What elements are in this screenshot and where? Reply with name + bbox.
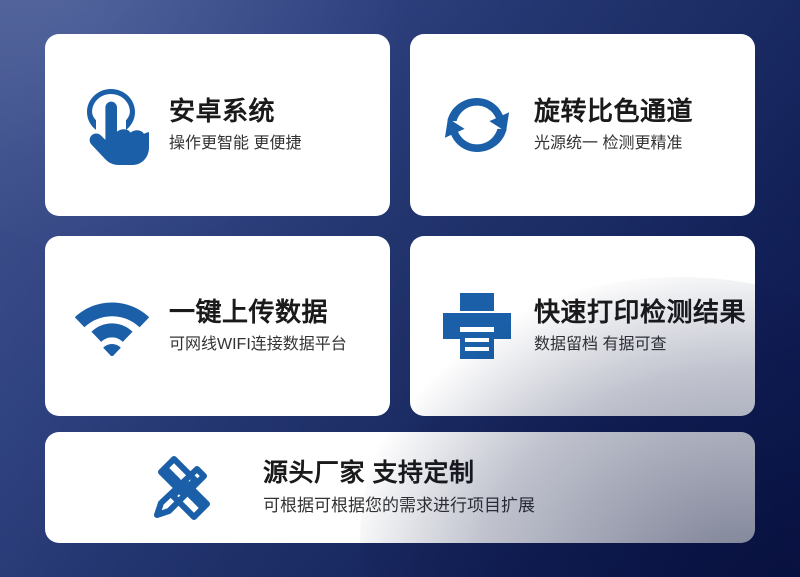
feature-title: 旋转比色通道 (534, 97, 693, 127)
feature-row-1: 安卓系统 操作更智能 更便捷 旋转比色通道 光源统一 检测更精准 (45, 34, 755, 216)
feature-title: 快速打印检测结果 (534, 298, 746, 328)
rotate-refresh-arrows-icon (434, 82, 520, 168)
feature-subtitle: 可根据可根据您的需求进行项目扩展 (263, 496, 535, 516)
feature-title: 一键上传数据 (169, 298, 347, 328)
pen-ruler-customize-icon (141, 445, 227, 531)
feature-card-grid: 安卓系统 操作更智能 更便捷 旋转比色通道 光源统一 检测更精准 (45, 34, 755, 543)
feature-card-rotating-channel[interactable]: 旋转比色通道 光源统一 检测更精准 (410, 34, 755, 216)
feature-text-block: 旋转比色通道 光源统一 检测更精准 (534, 97, 693, 153)
feature-card-android-system[interactable]: 安卓系统 操作更智能 更便捷 (45, 34, 390, 216)
feature-subtitle: 操作更智能 更便捷 (169, 134, 301, 153)
feature-poster: 安卓系统 操作更智能 更便捷 旋转比色通道 光源统一 检测更精准 (0, 0, 800, 577)
feature-text-block: 源头厂家 支持定制 可根据可根据您的需求进行项目扩展 (263, 459, 535, 516)
feature-title: 源头厂家 支持定制 (263, 459, 535, 488)
printer-icon (434, 283, 520, 369)
feature-card-data-upload[interactable]: 一键上传数据 可网线WIFI连接数据平台 (45, 236, 390, 416)
feature-subtitle: 数据留档 有据可查 (534, 335, 746, 354)
feature-title: 安卓系统 (169, 97, 301, 127)
touch-tap-hand-icon (69, 82, 155, 168)
feature-row-3: 源头厂家 支持定制 可根据可根据您的需求进行项目扩展 (45, 432, 755, 543)
wifi-signal-icon (69, 283, 155, 369)
feature-subtitle: 可网线WIFI连接数据平台 (169, 335, 347, 354)
feature-text-block: 安卓系统 操作更智能 更便捷 (169, 97, 301, 153)
feature-subtitle: 光源统一 检测更精准 (534, 134, 693, 153)
feature-row-2: 一键上传数据 可网线WIFI连接数据平台 快速打印检测结果 (45, 236, 755, 416)
feature-card-print-results[interactable]: 快速打印检测结果 数据留档 有据可查 (410, 236, 755, 416)
feature-text-block: 一键上传数据 可网线WIFI连接数据平台 (169, 298, 347, 354)
feature-text-block: 快速打印检测结果 数据留档 有据可查 (534, 298, 746, 354)
feature-card-manufacturer-customization[interactable]: 源头厂家 支持定制 可根据可根据您的需求进行项目扩展 (45, 432, 755, 543)
